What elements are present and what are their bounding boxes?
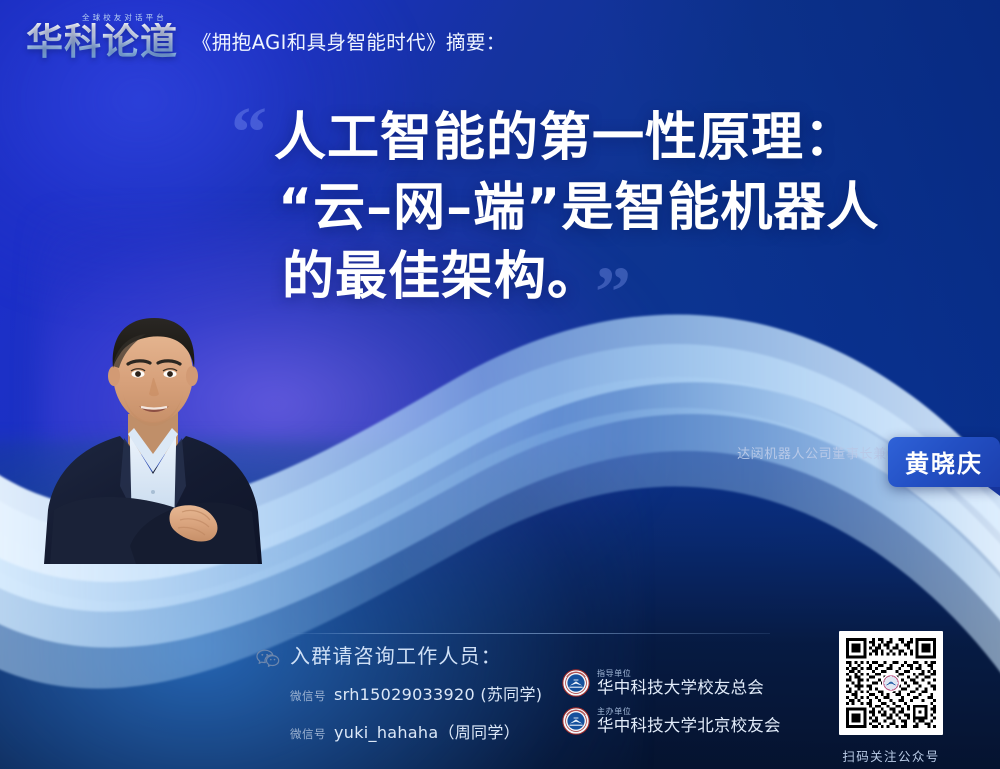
organization-kind: 指导单位 — [597, 670, 764, 678]
organization-texts: 指导单位 华中科技大学校友总会 — [597, 670, 764, 697]
quote-line-1: 人工智能的第一性原理： — [274, 104, 964, 174]
footer-divider — [285, 633, 770, 634]
contact-row: 微信号 yuki_hahaha（周同学） — [290, 719, 542, 743]
qr-caption: 扫码关注公众号 — [842, 746, 939, 765]
organization-name: 华中科技大学校友总会 — [597, 680, 764, 697]
page-title: 《拥抱AGI和具身智能时代》摘要： — [192, 26, 506, 60]
quote-open-mark: “ — [231, 96, 267, 168]
speaker-portrait — [24, 296, 284, 564]
speaker-name-badge: 黄晓庆 — [888, 437, 1000, 487]
contact-value[interactable]: yuki_hahaha（周同学） — [334, 719, 520, 743]
logo-wordmark: 华科论道 — [26, 23, 178, 60]
university-seal-icon — [562, 669, 590, 697]
wechat-icon — [256, 649, 280, 669]
quote-close-mark: ” — [595, 256, 631, 328]
poster-canvas: 全球校友对话平台 华科论道 《拥抱AGI和具身智能时代》摘要： “ 人工智能的第… — [0, 0, 1000, 769]
organization-row: 主办单位 华中科技大学北京校友会 — [562, 707, 781, 735]
contact-label: 微信号 — [290, 688, 326, 704]
organization-row: 指导单位 华中科技大学校友总会 — [562, 669, 781, 697]
footer-texts: 入群请咨询工作人员： 微信号 srh15029033920 (苏同学) 微信号 … — [290, 640, 542, 757]
organization-name: 华中科技大学北京校友会 — [597, 718, 781, 735]
brand-logo[interactable]: 全球校友对话平台 华科论道 — [26, 14, 178, 60]
contact-label: 微信号 — [290, 726, 326, 742]
footer-heading: 入群请咨询工作人员： — [290, 640, 542, 669]
qr-block: 扫码关注公众号 — [839, 631, 943, 765]
university-seal-icon — [562, 707, 590, 735]
organization-kind: 主办单位 — [597, 708, 781, 716]
organization-list: 指导单位 华中科技大学校友总会 主办单位 华中科技大学北京校友会 — [562, 669, 781, 735]
footer-contact-block: 入群请咨询工作人员： 微信号 srh15029033920 (苏同学) 微信号 … — [256, 640, 542, 757]
quote-line-2: “云–网–端”是智能机器人 — [278, 174, 964, 244]
contact-value[interactable]: srh15029033920 (苏同学) — [334, 681, 542, 705]
logo-tagline: 全球校友对话平台 — [82, 12, 167, 23]
header: 全球校友对话平台 华科论道 《拥抱AGI和具身智能时代》摘要： — [26, 14, 506, 60]
contact-row: 微信号 srh15029033920 (苏同学) — [290, 681, 542, 705]
organization-texts: 主办单位 华中科技大学北京校友会 — [597, 708, 781, 735]
qr-code-icon[interactable] — [839, 631, 943, 735]
